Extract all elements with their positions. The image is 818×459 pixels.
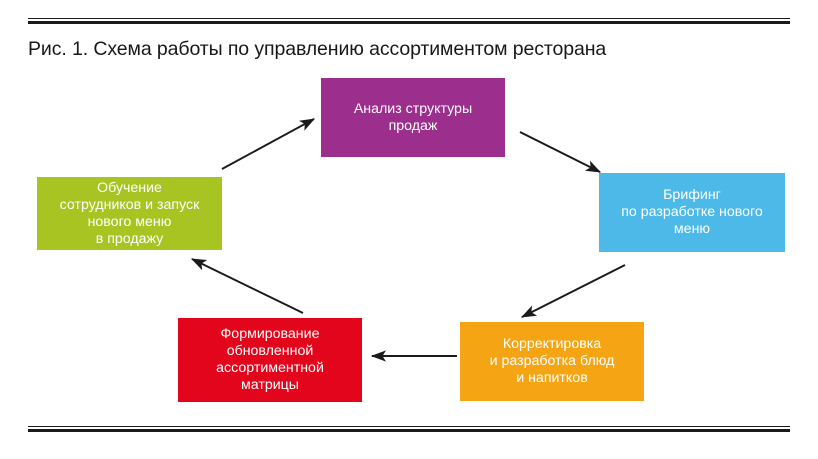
- process-node-analysis[interactable]: Анализ структуры продаж: [321, 78, 505, 157]
- process-node-briefing[interactable]: Брифинг по разработке нового меню: [599, 173, 785, 252]
- process-node-training[interactable]: Обучение сотрудников и запуск нового мен…: [37, 177, 222, 250]
- process-node-analysis-label: Анализ структуры продаж: [354, 101, 472, 135]
- top-double-rule: [28, 18, 790, 24]
- process-node-matrix[interactable]: Формирование обновленной ассортиментной …: [178, 318, 362, 402]
- arrow-briefing-to-correction: [522, 265, 625, 317]
- process-node-training-label: Обучение сотрудников и запуск нового мен…: [60, 180, 200, 248]
- process-node-correction[interactable]: Корректировка и разработка блюд и напитк…: [460, 322, 644, 401]
- arrow-matrix-to-training: [192, 259, 303, 313]
- process-node-correction-label: Корректировка и разработка блюд и напитк…: [490, 336, 615, 387]
- arrow-training-to-analysis: [222, 119, 314, 169]
- figure-root: Рис. 1. Схема работы по управлению ассор…: [0, 0, 818, 459]
- rule-thick-line: [28, 429, 790, 432]
- bottom-double-rule: [28, 426, 790, 432]
- arrow-analysis-to-briefing: [520, 132, 600, 172]
- process-node-briefing-label: Брифинг по разработке нового меню: [621, 187, 763, 238]
- process-node-matrix-label: Формирование обновленной ассортиментной …: [216, 326, 324, 394]
- rule-thick-line: [28, 21, 790, 24]
- figure-caption: Рис. 1. Схема работы по управлению ассор…: [28, 37, 748, 61]
